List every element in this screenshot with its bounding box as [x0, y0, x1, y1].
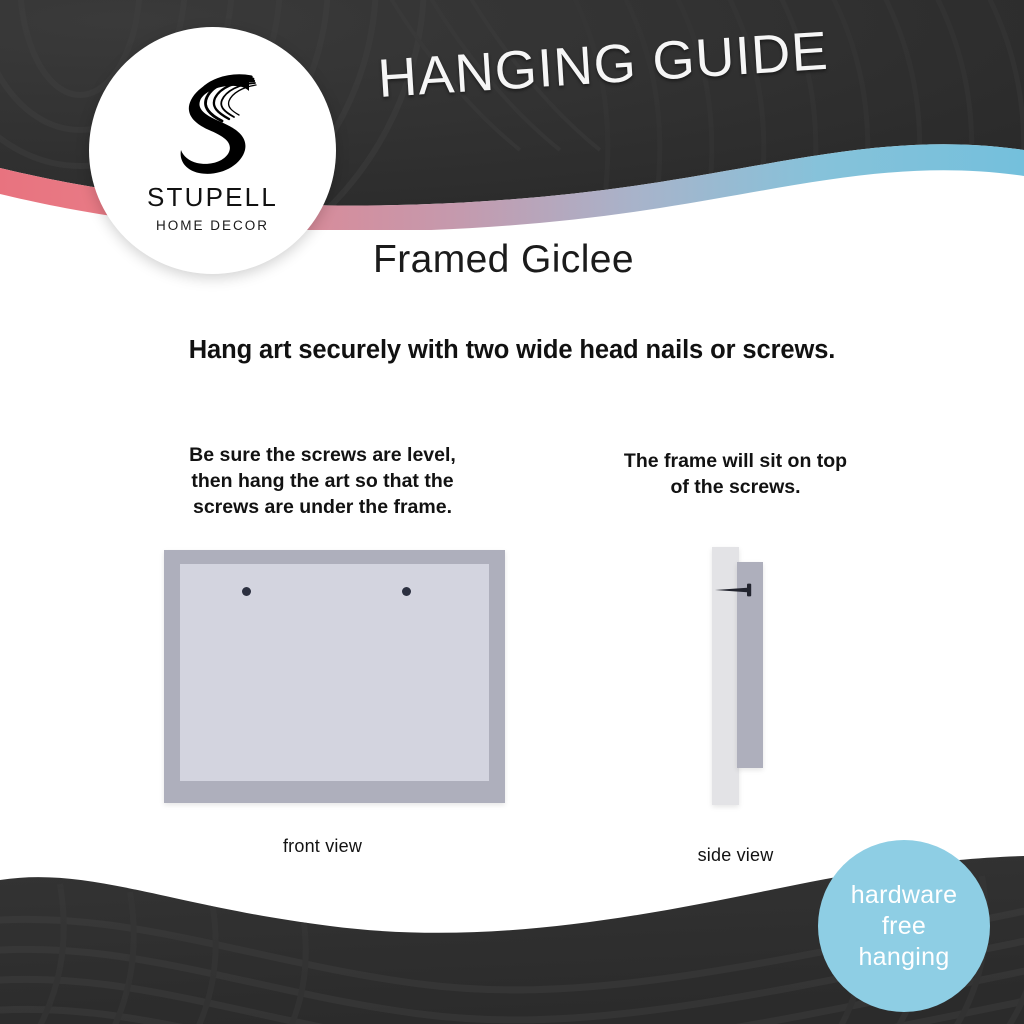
hardware-free-hanging-badge: hardware free hanging: [818, 840, 990, 1012]
front-caption-line-2: then hang the art so that the: [150, 468, 495, 494]
page-title: HANGING GUIDE: [376, 20, 830, 110]
frame-mat-area: [180, 564, 489, 781]
front-view-caption-block: Be sure the screws are level, then hang …: [150, 442, 495, 520]
screw-dot-right-icon: [402, 587, 411, 596]
side-caption-line-2: of the screws.: [588, 474, 883, 500]
product-type-label: Framed Giclee: [373, 238, 634, 282]
screw-dot-left-icon: [242, 587, 251, 596]
badge-line-1: hardware: [851, 880, 958, 911]
front-view-frame-diagram: [164, 550, 505, 803]
hanging-guide-page: STUPELL HOME DECOR HANGING GUIDE Framed …: [0, 0, 1024, 1024]
side-caption-line-1: The frame will sit on top: [588, 448, 883, 474]
badge-line-3: hanging: [858, 942, 949, 973]
front-caption-line-3: screws are under the frame.: [150, 494, 495, 520]
brand-logo-badge: STUPELL HOME DECOR: [89, 27, 336, 274]
stupell-s-swoosh-icon: [153, 60, 273, 180]
side-view-caption-block: The frame will sit on top of the screws.: [588, 448, 883, 500]
side-view-label: side view: [588, 845, 883, 866]
front-view-label: front view: [0, 836, 645, 857]
front-caption-line-1: Be sure the screws are level,: [150, 442, 495, 468]
badge-line-2: free: [882, 911, 926, 942]
logo-submark: HOME DECOR: [156, 218, 269, 233]
lead-instruction: Hang art securely with two wide head nai…: [0, 336, 1024, 365]
logo-wordmark: STUPELL: [147, 182, 278, 213]
nail-icon: [713, 583, 757, 597]
